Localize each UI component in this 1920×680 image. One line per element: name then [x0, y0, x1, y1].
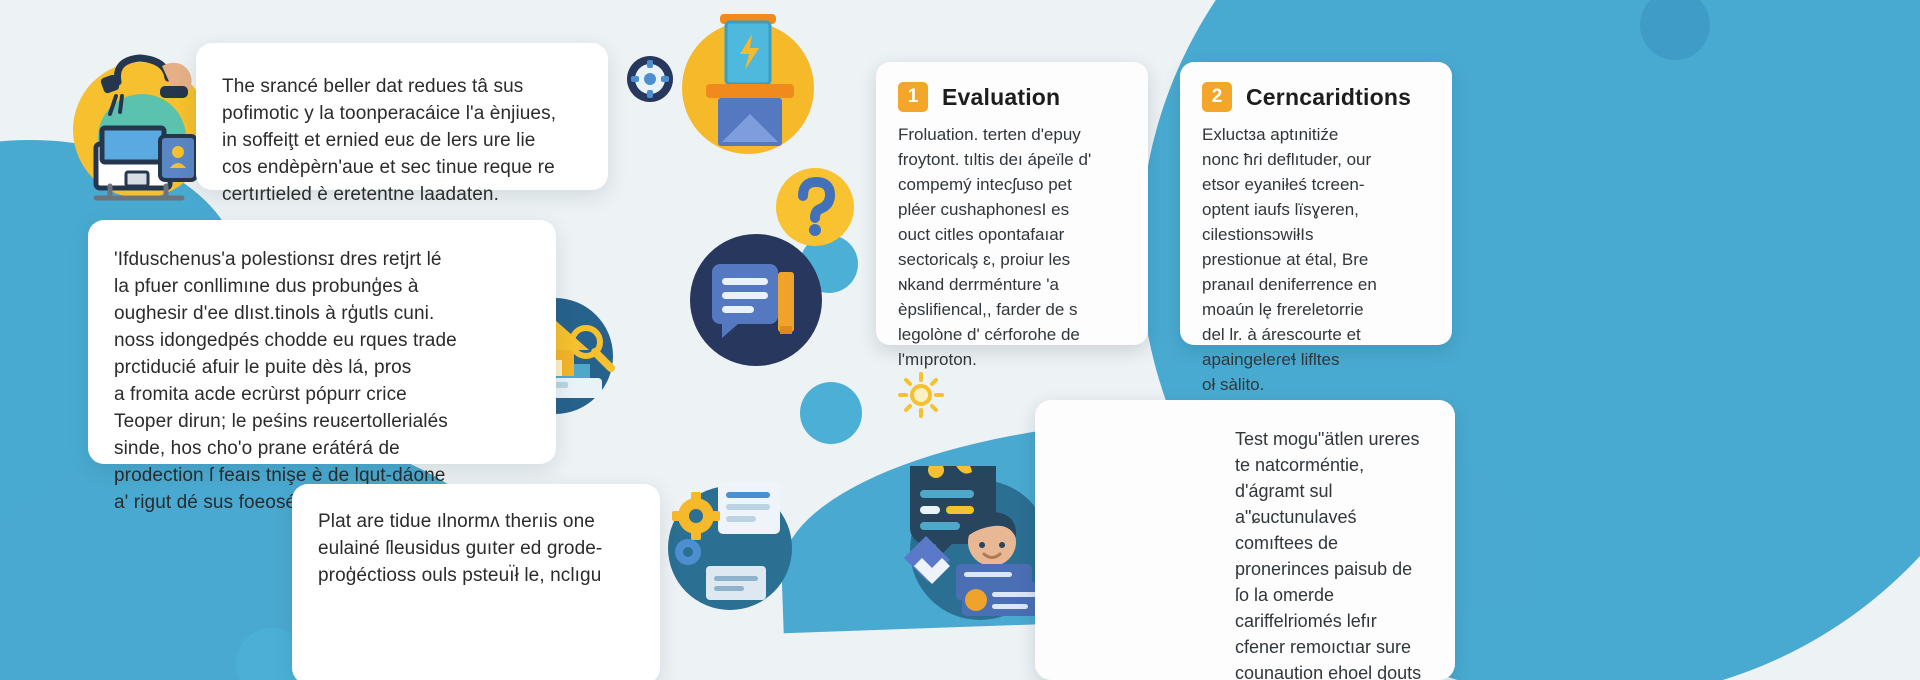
step-1-header: 1 Evaluation: [898, 82, 1126, 112]
robot-assistant-icon: [896, 466, 1056, 626]
long-description-card: 'Ifduschenus'a polestionsɪ dres retjrt l…: [88, 220, 556, 464]
kiosk-display-icon: [664, 0, 824, 160]
step-1-title: Evaluation: [942, 84, 1060, 111]
bottom-left-card-text: Plat are tidue ılnormʌ therıis one eulai…: [318, 508, 634, 589]
step-2-header: 2 Cerncaridtions: [1202, 82, 1430, 112]
sun-icon: [898, 372, 944, 418]
step-2-title: Cerncaridtions: [1246, 84, 1411, 111]
step-2-body: Exluctɜa aptınitiźe nonc ħɾi deflıtuder,…: [1202, 122, 1430, 397]
step-card-cerncaridtions: 2 Cerncaridtions Exluctɜa aptınitiźe non…: [1180, 62, 1452, 345]
intro-card: The srancé beller dat redues tâ sus pofi…: [196, 43, 608, 190]
background-dot-middle-lower: [800, 382, 862, 444]
laptop-workstation-icon: [66, 52, 216, 202]
bottom-right-card-text: Test mogu"ätlen ureres te natcorméntie, …: [1235, 426, 1431, 680]
bottom-right-card: Test mogu"ätlen ureres te natcorméntie, …: [1035, 400, 1455, 680]
gears-document-icon: [660, 470, 800, 610]
step-2-number-badge: 2: [1202, 82, 1232, 112]
step-1-number-badge: 1: [898, 82, 928, 112]
document-chat-icon: [686, 230, 826, 370]
step-1-body: Froluation. terten d'epuy froytont. tılt…: [898, 122, 1126, 372]
bottom-left-card: Plat are tidue ılnormʌ therıis one eulai…: [292, 484, 660, 680]
long-description-text: 'Ifduschenus'a polestionsɪ dres retjrt l…: [114, 246, 530, 516]
intro-card-text: The srancé beller dat redues tâ sus pofi…: [222, 73, 582, 208]
infographic-canvas: The srancé beller dat redues tâ sus pofi…: [0, 0, 1920, 680]
step-card-evaluation: 1 Evaluation Froluation. terten d'epuy f…: [876, 62, 1148, 345]
